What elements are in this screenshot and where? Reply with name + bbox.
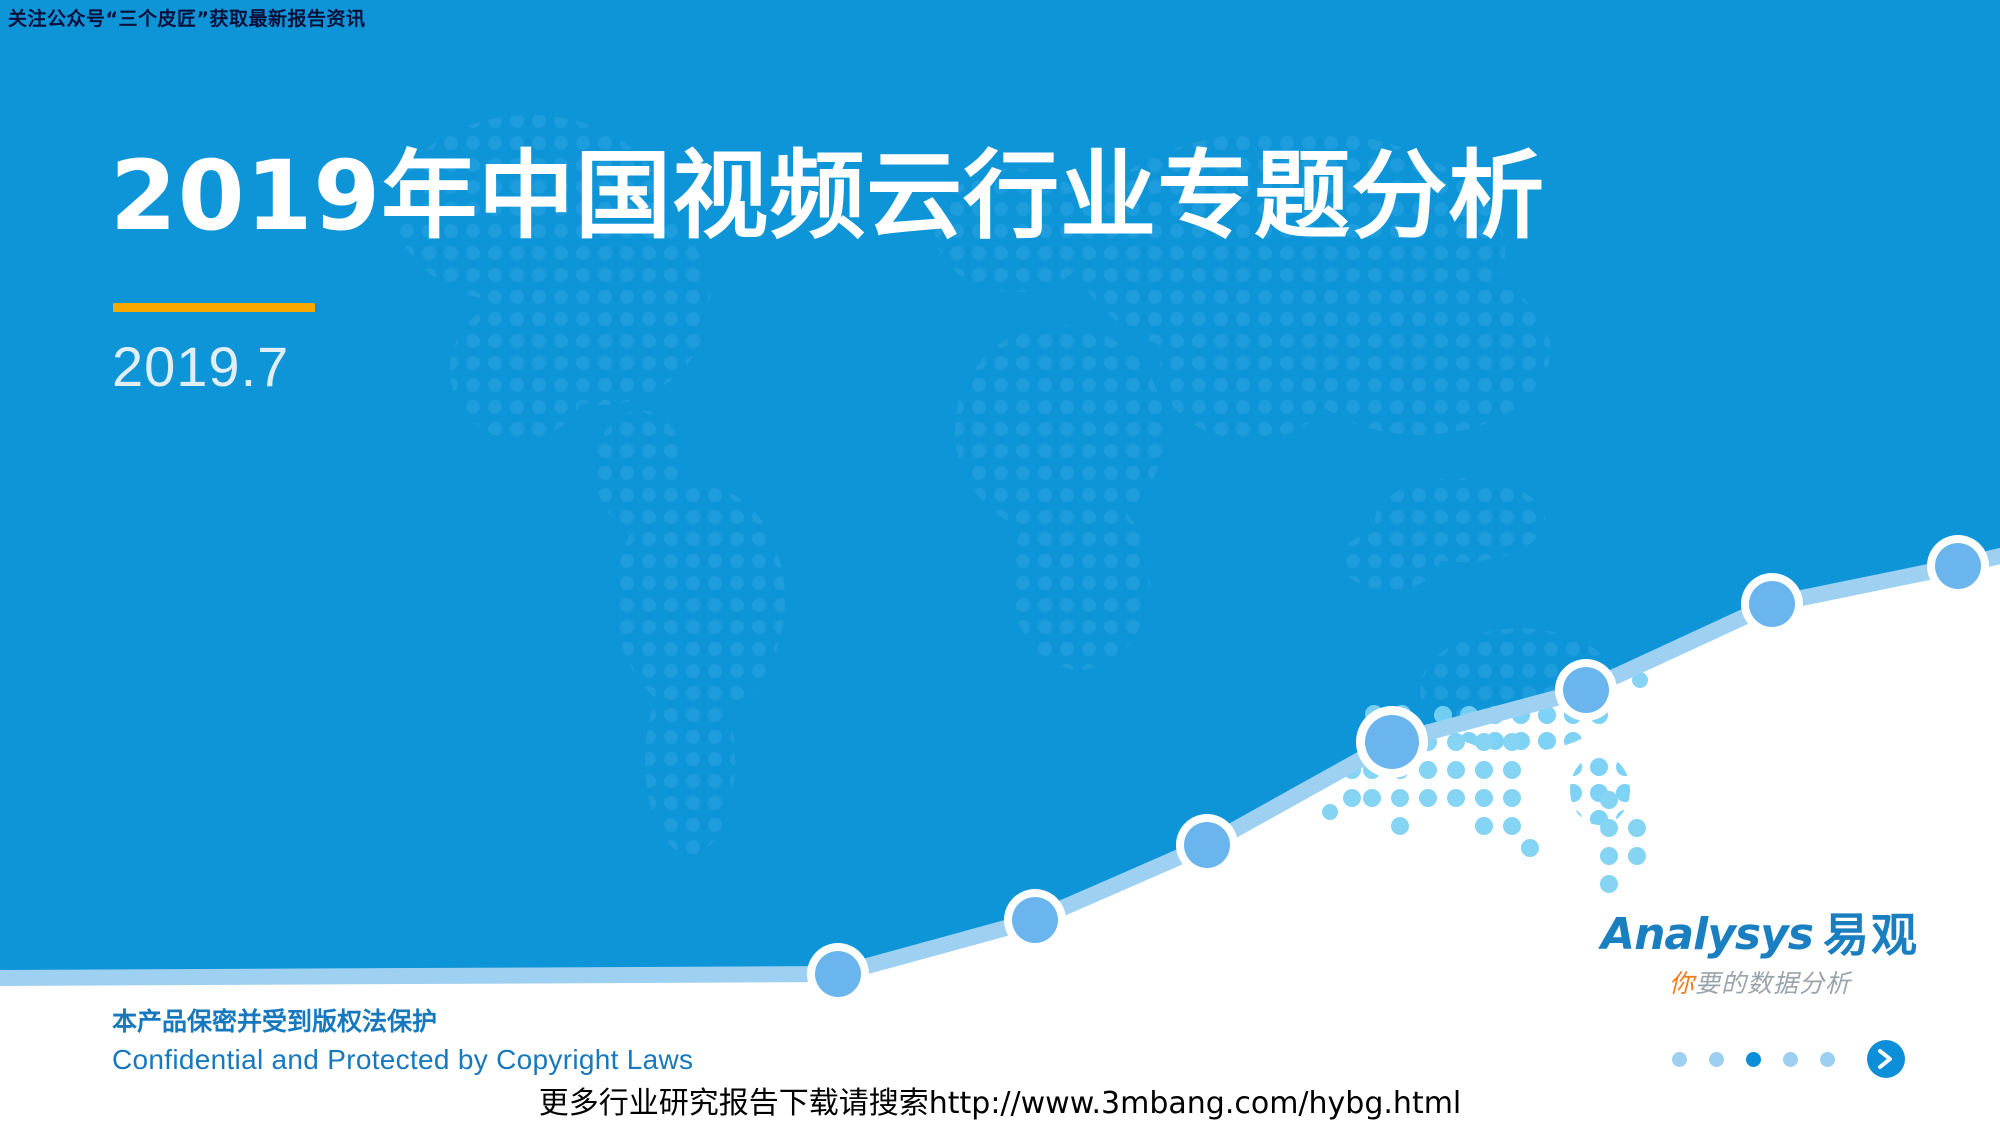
analysys-name-cn: 易观 [1823,912,1919,958]
chart-marker [1741,573,1803,635]
confidentiality-cn: 本产品保密并受到版权法保护 [112,1004,693,1040]
report-date: 2019.7 [112,334,289,399]
analysys-wordmark: Analysys [1601,913,1813,957]
chart-marker [1927,535,1989,597]
confidentiality-block: 本产品保密并受到版权法保护 Confidential and Protected… [112,1004,693,1081]
page-title: 2019年中国视频云行业专题分析 [110,148,1545,244]
pager-dot-2[interactable] [1709,1052,1724,1067]
pagination[interactable] [1672,1040,1905,1078]
title-underline-rule [113,303,315,312]
slide-root: 2019年中国视频云行业专题分析 2019.7 本产品保密并受到版权法保护 Co… [0,0,2000,1125]
pager-dot-4[interactable] [1783,1052,1798,1067]
pager-dot-3[interactable] [1746,1052,1761,1067]
download-url-watermark: 更多行业研究报告下载请搜索http://www.3mbang.com/hybg.… [0,1078,2000,1122]
analysys-logo: Analysys 易观 你要的数据分析 [1630,912,1890,1000]
chart-marker [1356,706,1428,778]
logo-tagline-accent: 你 [1669,969,1695,998]
next-slide-button[interactable] [1867,1040,1905,1078]
watermark-banner: 关注公众号“三个皮匠”获取最新报告资讯 [0,0,2000,37]
confidentiality-en: Confidential and Protected by Copyright … [112,1040,693,1081]
chart-marker [1004,889,1066,951]
logo-tagline-rest: 要的数据分析 [1695,969,1851,998]
logo-tagline: 你要的数据分析 [1630,964,1890,1000]
logo-wordmark-row: Analysys 易观 [1630,912,1890,958]
chart-marker [807,943,869,1005]
chart-marker [1176,814,1238,876]
pager-dot-5[interactable] [1820,1052,1835,1067]
pager-dot-1[interactable] [1672,1052,1687,1067]
watermark-banner-text: 关注公众号“三个皮匠”获取最新报告资讯 [8,4,365,31]
chart-marker [1555,659,1617,721]
chevron-right-icon [1877,1048,1895,1070]
